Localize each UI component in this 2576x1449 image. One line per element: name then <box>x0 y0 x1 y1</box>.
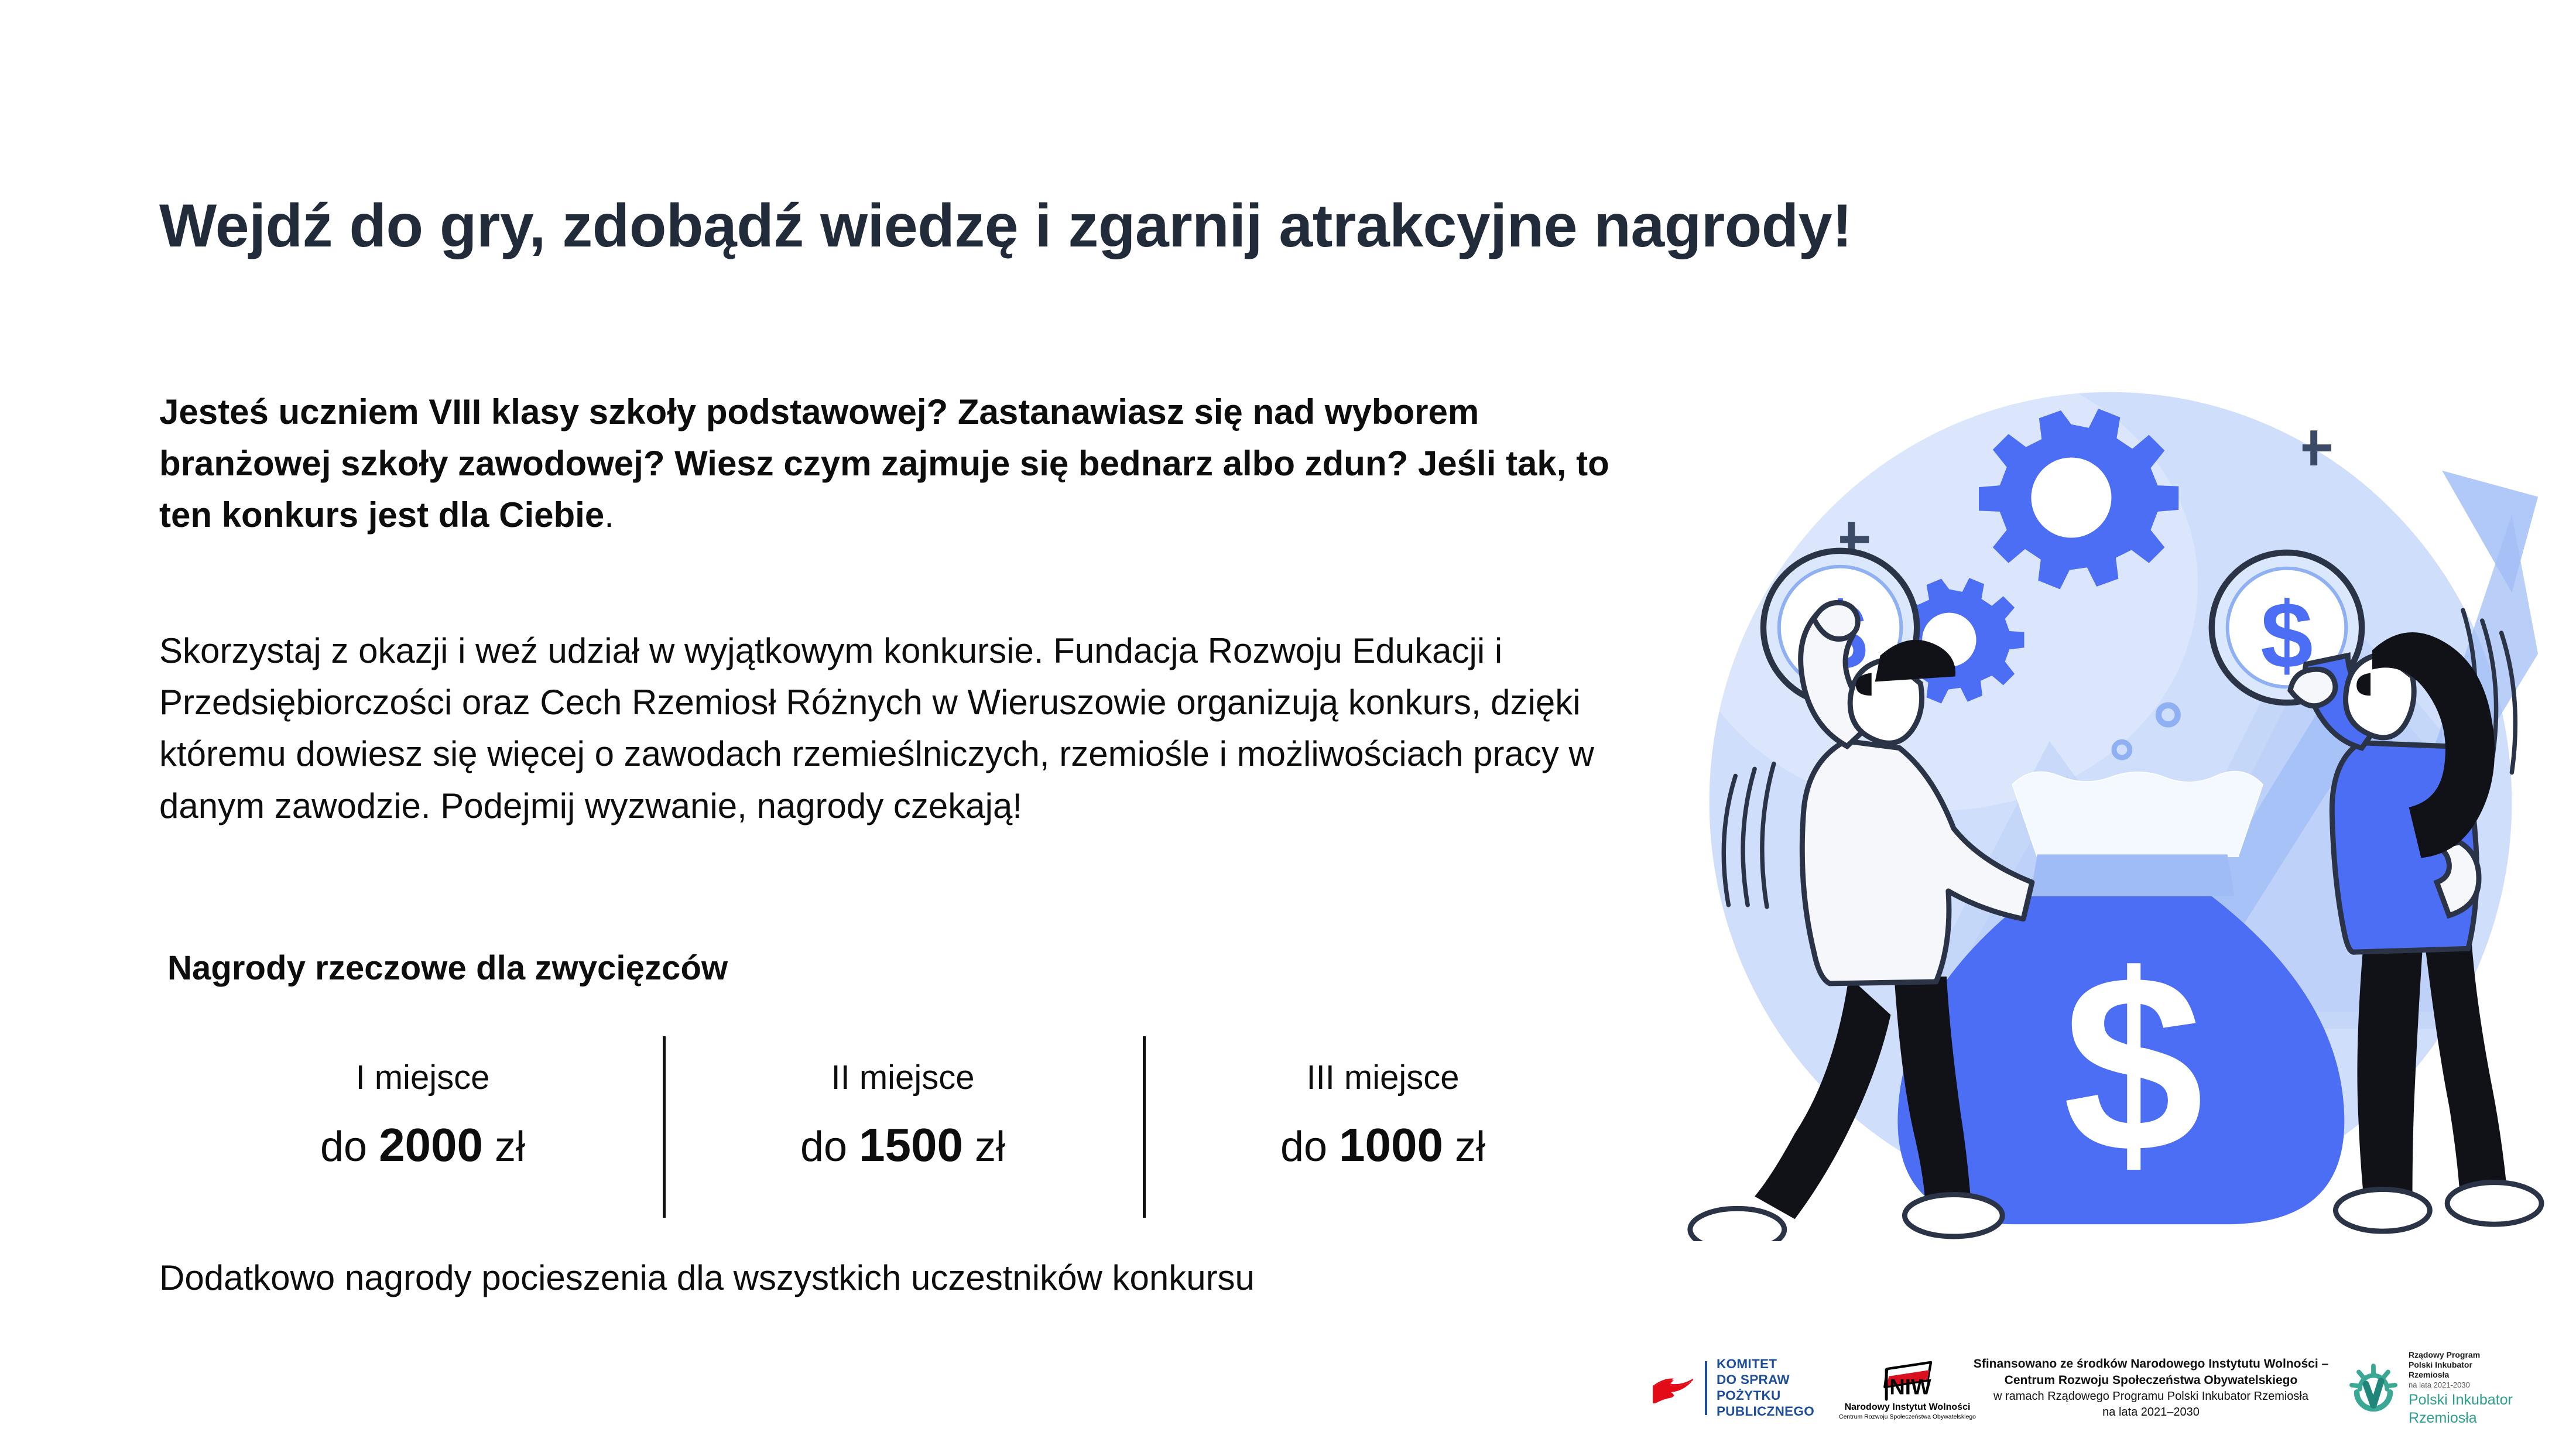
kdspp-line-3: POŻYTKU <box>1717 1388 1814 1404</box>
logo-polski-inkubator-rzemiosla: Rządowy Program Polski Inkubator Rzemios… <box>2345 1350 2533 1426</box>
prize-value: 2000 <box>379 1119 483 1171</box>
kdspp-line-1: KOMITET <box>1717 1356 1814 1372</box>
pir-big-2: Rzemiosła <box>2409 1410 2513 1427</box>
intro-bold-text: Jesteś uczniem VIII klasy szkoły podstaw… <box>159 392 1609 535</box>
prize-amount: do 2000 zł <box>320 1122 525 1169</box>
prize-prefix: do <box>800 1123 847 1170</box>
niw-flag-icon: NIW <box>1876 1356 1939 1401</box>
footer-logos: KOMITET DO SPRAW POŻYTKU PUBLICZNEGO NIW… <box>1651 1344 2547 1432</box>
niw-mark-text: NIW <box>1889 1375 1931 1399</box>
prize-unit: zł <box>975 1123 1005 1170</box>
dollar-sign: $ <box>2063 922 2204 1205</box>
intro-bold-tail: . <box>604 495 614 535</box>
gear-large <box>1979 409 2178 589</box>
prize-place-label: I miejsce <box>356 1061 490 1095</box>
funding-statement: Sfinansowano ze środków Narodowego Insty… <box>1969 1356 2332 1420</box>
divider <box>1705 1361 1707 1415</box>
prize-unit: zł <box>495 1123 525 1170</box>
prize-amount: do 1000 zł <box>1280 1122 1485 1169</box>
prize-prefix: do <box>1280 1123 1327 1170</box>
niw-line-1: Narodowy Instytut Wolności <box>1845 1402 1971 1413</box>
polish-flag-icon <box>1651 1373 1697 1403</box>
page-title: Wejdź do gry, zdobądź wiedzę i zgarnij a… <box>159 192 1681 260</box>
funding-line-3: w ramach Rządowego Programu Polski Inkub… <box>1969 1389 2332 1405</box>
prizes-row: I miejsce do 2000 zł II miejsce do 1500 … <box>183 1036 1623 1218</box>
logo-niw: NIW Narodowy Instytut Wolności Centrum R… <box>1849 1356 1966 1420</box>
kdspp-line-2: DO SPRAW <box>1717 1372 1814 1388</box>
niw-line-2: Centrum Rozwoju Społeczeństwa Obywatelsk… <box>1839 1413 1976 1420</box>
pir-text: Rządowy Program Polski Inkubator Rzemios… <box>2409 1350 2513 1426</box>
prize-column-1: I miejsce do 2000 zł <box>183 1036 663 1218</box>
prize-value: 1500 <box>859 1119 963 1171</box>
poster-page: Wejdź do gry, zdobądź wiedzę i zgarnij a… <box>0 0 2576 1449</box>
pir-small-1: Rządowy Program <box>2409 1350 2513 1360</box>
pir-years: na lata 2021-2030 <box>2409 1381 2513 1390</box>
funding-line-4: na lata 2021–2030 <box>1969 1405 2332 1420</box>
pir-small-3: Rzemiosła <box>2409 1370 2513 1380</box>
intro-bold-paragraph: Jesteś uczniem VIII klasy szkoły podstaw… <box>159 386 1635 542</box>
prize-place-label: II miejsce <box>831 1061 975 1095</box>
money-bag-illustration: $ $ <box>1674 363 2547 1241</box>
prize-amount: do 1500 zł <box>800 1122 1005 1169</box>
prize-place-label: III miejsce <box>1306 1061 1459 1095</box>
body-paragraph: Skorzystaj z okazji i weź udział w wyjąt… <box>159 625 1646 832</box>
prize-prefix: do <box>320 1123 367 1170</box>
consolation-prizes-note: Dodatkowo nagrody pocieszenia dla wszyst… <box>159 1258 1255 1298</box>
prize-value: 1000 <box>1339 1119 1443 1171</box>
pir-small-2: Polski Inkubator <box>2409 1360 2513 1370</box>
pir-big-1: Polski Inkubator <box>2409 1392 2513 1409</box>
kdspp-line-4: PUBLICZNEGO <box>1717 1404 1814 1420</box>
prize-unit: zł <box>1455 1123 1485 1170</box>
prize-column-2: II miejsce do 1500 zł <box>663 1036 1143 1218</box>
prize-column-3: III miejsce do 1000 zł <box>1143 1036 1623 1218</box>
funding-line-1: Sfinansowano ze środków Narodowego Insty… <box>1969 1356 2332 1372</box>
logo-komitet-do-spraw-pozytku-publicznego: KOMITET DO SPRAW POŻYTKU PUBLICZNEGO <box>1651 1356 1844 1419</box>
logo-text: KOMITET DO SPRAW POŻYTKU PUBLICZNEGO <box>1717 1356 1814 1419</box>
funding-line-2: Centrum Rozwoju Społeczeństwa Obywatelsk… <box>1969 1372 2332 1389</box>
content-column: Wejdź do gry, zdobądź wiedzę i zgarnij a… <box>159 0 1681 1449</box>
prizes-heading: Nagrody rzeczowe dla zwycięzców <box>167 948 728 988</box>
lightbulb-check-icon <box>2345 1359 2402 1417</box>
